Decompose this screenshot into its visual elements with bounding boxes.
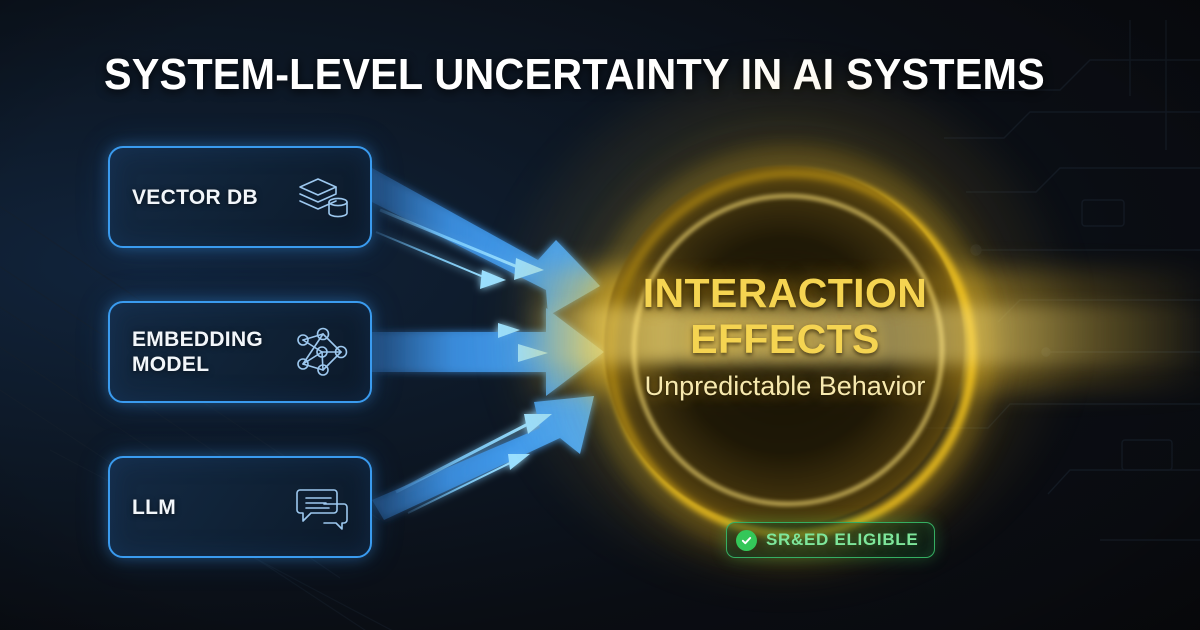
database-stack-icon	[292, 171, 352, 223]
check-circle-icon	[736, 530, 757, 551]
source-card-label: LLM	[132, 495, 176, 520]
chat-bubbles-icon	[292, 481, 352, 533]
sred-badge-label: SR&ED ELIGIBLE	[766, 530, 918, 550]
source-card-embedding-model[interactable]: EMBEDDING MODEL	[108, 301, 372, 403]
source-card-label: EMBEDDING MODEL	[132, 327, 263, 377]
neural-network-icon	[292, 326, 352, 378]
infographic-canvas: SYSTEM-LEVEL UNCERTAINTY IN AI SYSTEMS	[0, 0, 1200, 630]
source-card-vector-db[interactable]: VECTOR DB	[108, 146, 372, 248]
source-card-label: VECTOR DB	[132, 185, 258, 210]
source-card-llm[interactable]: LLM	[108, 456, 372, 558]
sred-eligible-badge[interactable]: SR&ED ELIGIBLE	[726, 522, 935, 558]
page-title: SYSTEM-LEVEL UNCERTAINTY IN AI SYSTEMS	[104, 50, 1044, 100]
